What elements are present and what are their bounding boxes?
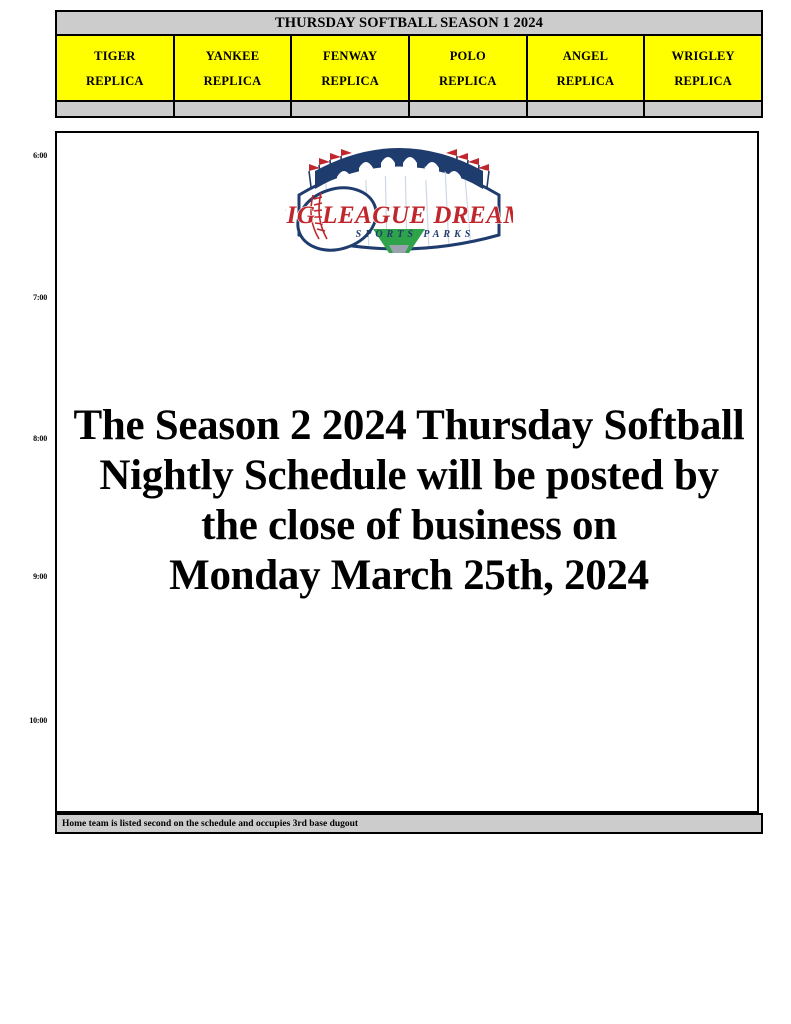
field-name-label: ANGEL: [528, 48, 644, 63]
time-axis-gutter: 6:00 7:00 8:00 9:00 10:00: [0, 0, 55, 840]
page-title: THURSDAY SOFTBALL SEASON 1 2024: [56, 11, 762, 35]
field-sub-label: REPLICA: [57, 63, 173, 88]
home-team-note: Home team is listed second on the schedu…: [55, 813, 763, 834]
field-sub-label: REPLICA: [175, 63, 291, 88]
spacer-cell: [174, 101, 292, 117]
big-league-dreams-logo: BIG LEAGUE DREAMS SPORTS PARKS: [285, 137, 513, 259]
schedule-title-row: THURSDAY SOFTBALL SEASON 1 2024: [56, 11, 762, 35]
field-sub-label: REPLICA: [292, 63, 408, 88]
announcement-line-1: The Season 2 2024 Thursday Softball: [57, 401, 759, 451]
logo-title: BIG LEAGUE DREAMS: [285, 202, 513, 229]
announcement-line-4: Monday March 25th, 2024: [57, 551, 759, 601]
announcement-line-2: Nightly Schedule will be posted by: [57, 451, 759, 501]
time-label-8: 8:00: [1, 435, 47, 443]
time-label-9: 9:00: [1, 573, 47, 581]
field-column-fenway[interactable]: FENWAY REPLICA: [291, 35, 409, 101]
announcement-line-3: the close of business on: [57, 501, 759, 551]
time-label-6: 6:00: [1, 152, 47, 160]
field-name-label: YANKEE: [175, 48, 291, 63]
field-column-tiger[interactable]: TIGER REPLICA: [56, 35, 174, 101]
spacer-cell: [527, 101, 645, 117]
spacer-cell: [56, 101, 174, 117]
spacer-cell: [409, 101, 527, 117]
field-column-angel[interactable]: ANGEL REPLICA: [527, 35, 645, 101]
logo-subtitle: SPORTS PARKS: [356, 229, 475, 240]
softball-schedule-sheet: 6:00 7:00 8:00 9:00 10:00 THURSDAY SOFTB…: [0, 0, 791, 1024]
field-column-wrigley[interactable]: WRIGLEY REPLICA: [644, 35, 762, 101]
field-sub-label: REPLICA: [645, 63, 761, 88]
field-sub-label: REPLICA: [410, 63, 526, 88]
field-name-label: TIGER: [57, 48, 173, 63]
announcement-message: The Season 2 2024 Thursday Softball Nigh…: [57, 401, 759, 601]
field-name-label: POLO: [410, 48, 526, 63]
field-name-label: FENWAY: [292, 48, 408, 63]
time-label-10: 10:00: [1, 717, 47, 725]
schedule-header-table: THURSDAY SOFTBALL SEASON 1 2024 TIGER RE…: [55, 10, 763, 118]
field-header-row: TIGER REPLICA YANKEE REPLICA FENWAY REPL…: [56, 35, 762, 101]
field-sub-label: REPLICA: [528, 63, 644, 88]
time-label-7: 7:00: [1, 294, 47, 302]
field-name-label: WRIGLEY: [645, 48, 761, 63]
field-column-polo[interactable]: POLO REPLICA: [409, 35, 527, 101]
spacer-cell: [291, 101, 409, 117]
field-spacer-row: [56, 101, 762, 117]
field-column-yankee[interactable]: YANKEE REPLICA: [174, 35, 292, 101]
spacer-cell: [644, 101, 762, 117]
schedule-body-area: BIG LEAGUE DREAMS SPORTS PARKS The Seaso…: [55, 131, 759, 813]
